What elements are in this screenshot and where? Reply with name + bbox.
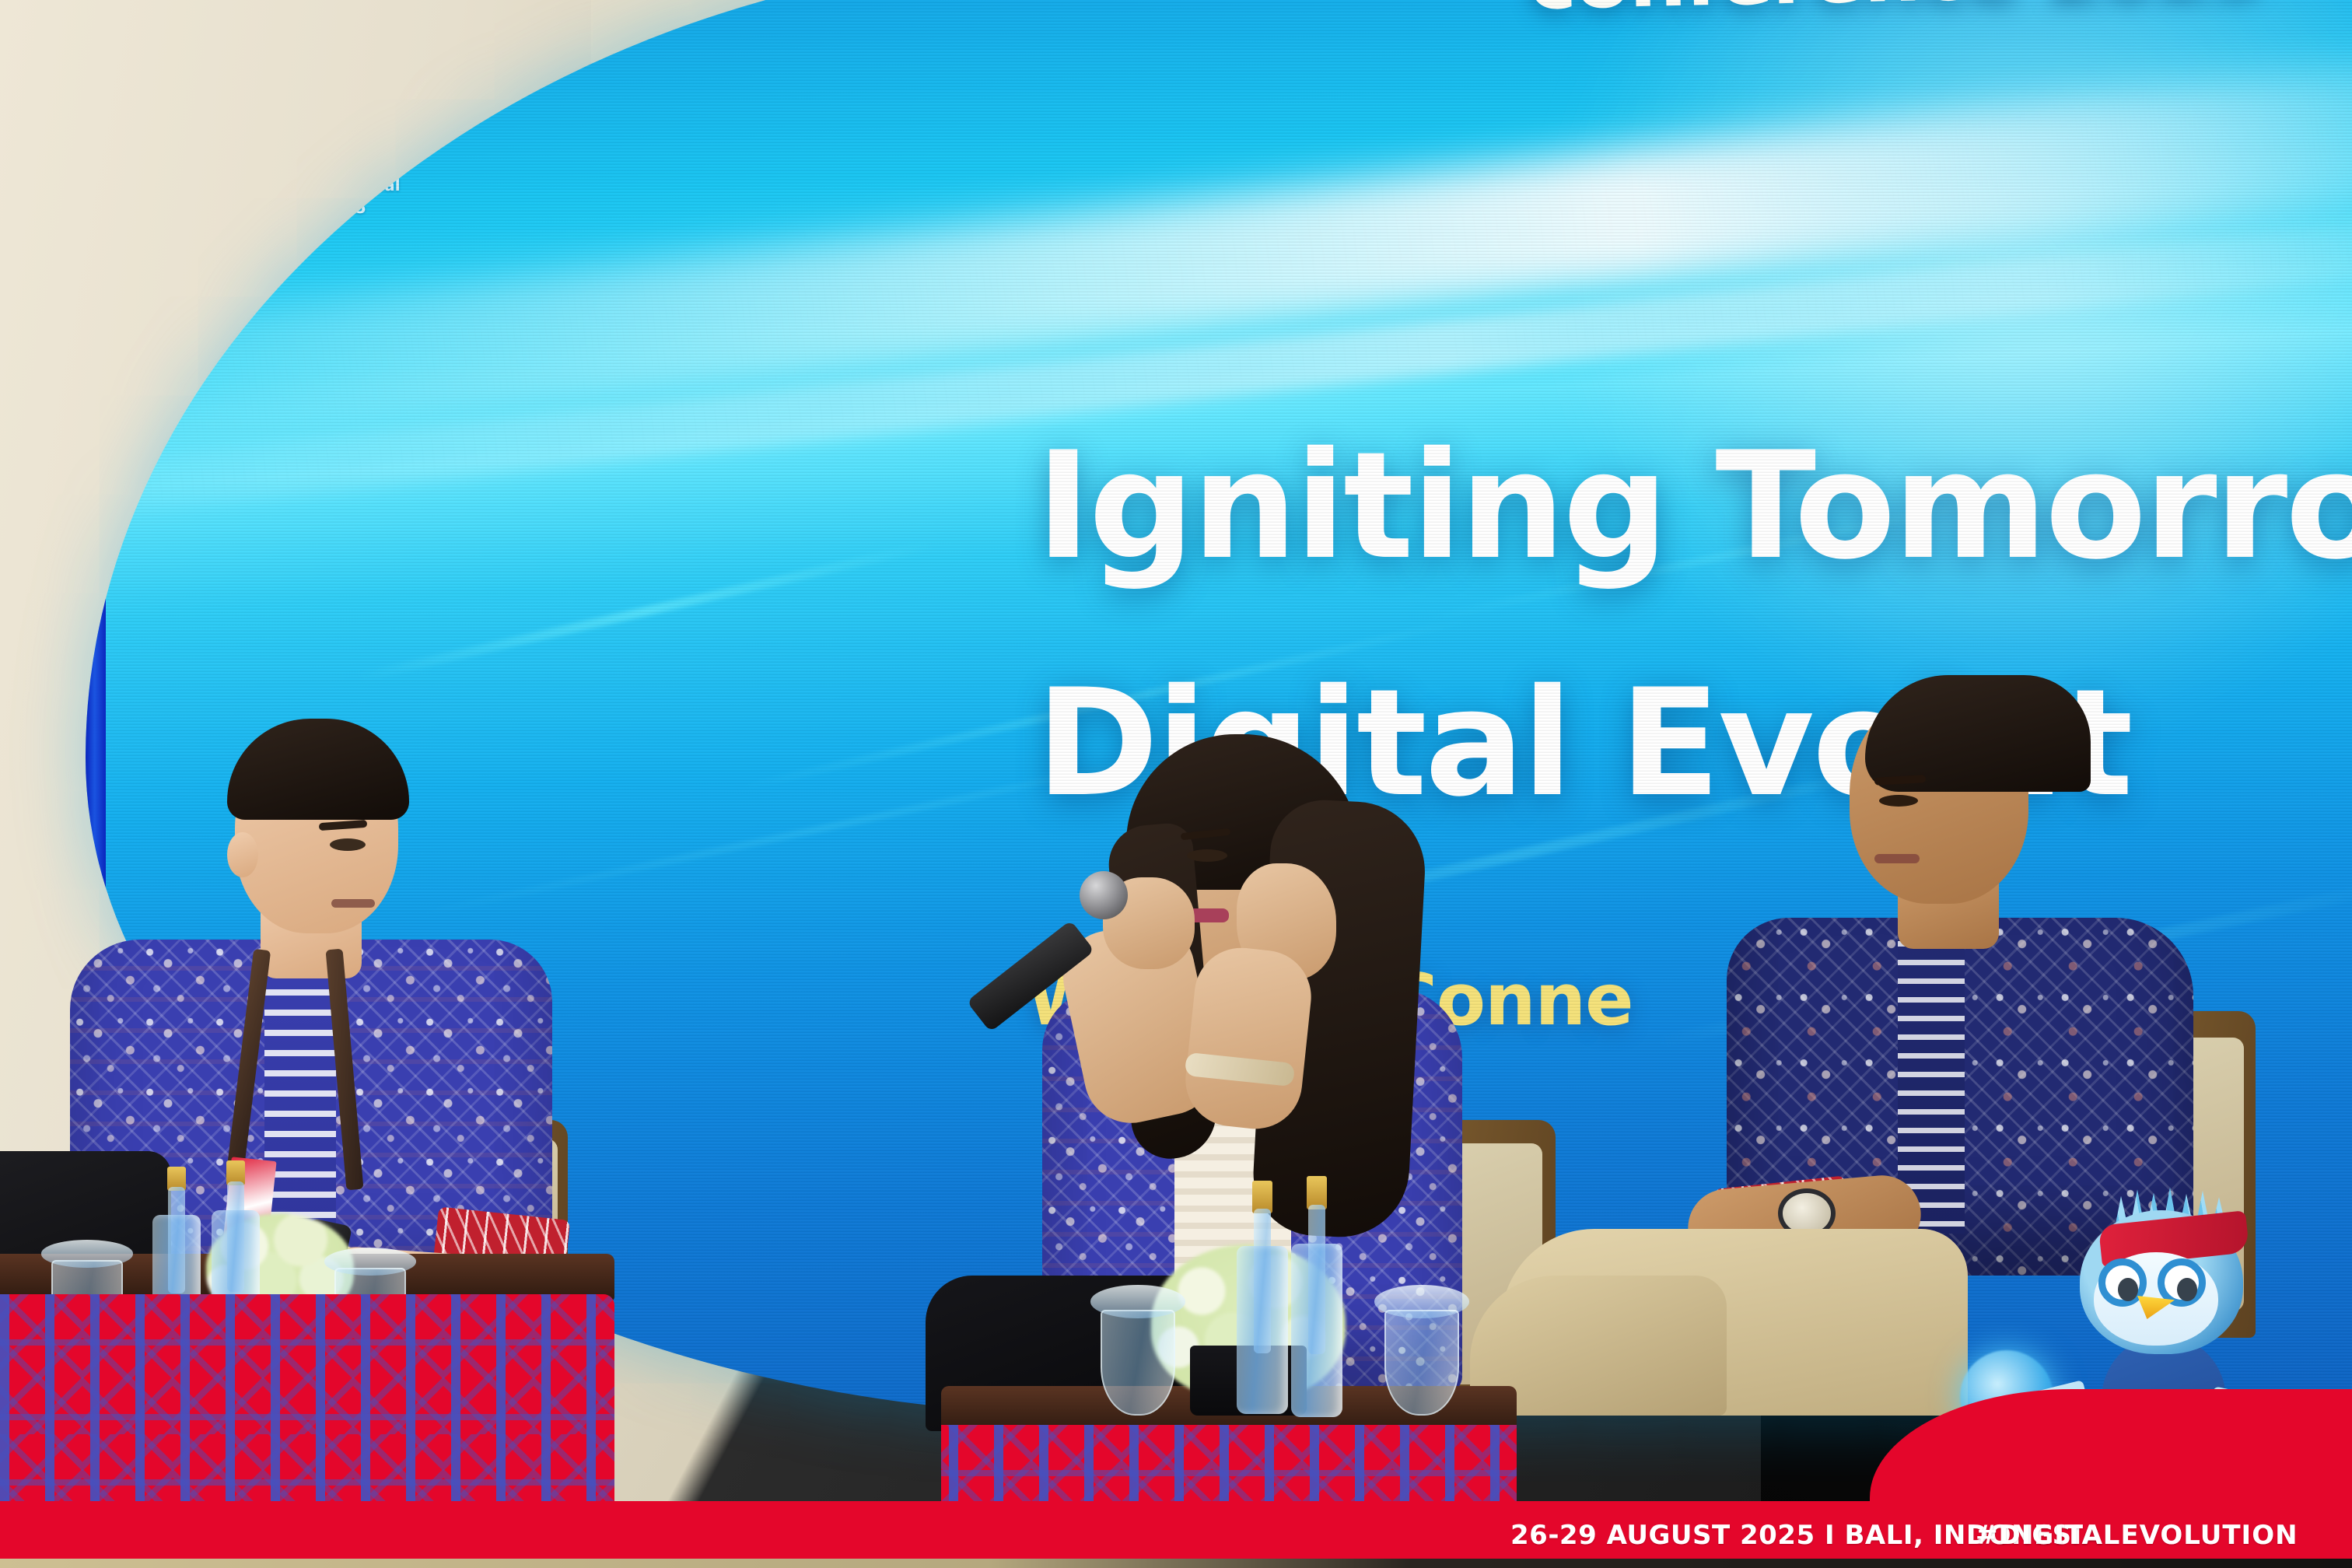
speaker-center-eye bbox=[1187, 849, 1227, 862]
table-skirt-center bbox=[941, 1425, 1517, 1510]
water-bottle-center-1 bbox=[1237, 1181, 1288, 1414]
speaker-right-hair bbox=[1865, 675, 2091, 792]
bottle-body bbox=[1291, 1244, 1342, 1417]
speaker-center-forearm bbox=[1181, 943, 1315, 1133]
mascot-eye bbox=[2177, 1278, 2197, 1301]
microphone-center-head bbox=[1080, 871, 1128, 919]
wine-glass-center-1 bbox=[1101, 1264, 1175, 1416]
speaker-left-mouth bbox=[331, 899, 375, 908]
speaker-left-eye bbox=[330, 838, 366, 851]
stage-floor-strip bbox=[0, 1559, 2352, 1568]
table-skirt-left bbox=[0, 1294, 614, 1528]
glass-bowl bbox=[1384, 1310, 1459, 1416]
bottle-body bbox=[1237, 1246, 1288, 1414]
banner-hashtag: #DIGITALEVOLUTION bbox=[1976, 1520, 2298, 1551]
speaker-right-mouth bbox=[1874, 854, 1920, 863]
glass-bowl bbox=[1101, 1310, 1175, 1416]
speaker-left-hair bbox=[227, 719, 409, 820]
mascot-eye bbox=[2118, 1278, 2138, 1301]
speaker-left-ear bbox=[227, 832, 258, 877]
conference-stage-photo: conference 2025 Igniting Tomorrow Digita… bbox=[0, 0, 2352, 1568]
wine-glass-center-2 bbox=[1384, 1264, 1459, 1416]
speaker-right-eye bbox=[1879, 795, 1918, 807]
water-bottle-center-2 bbox=[1291, 1176, 1342, 1417]
